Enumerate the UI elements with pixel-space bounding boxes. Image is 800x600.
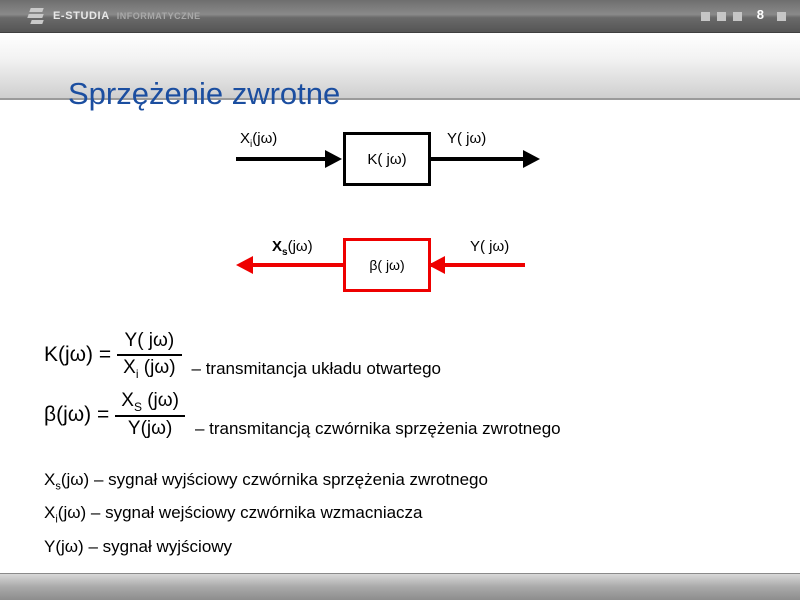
block-beta: β( jω)	[343, 238, 431, 292]
equation-k-lhs: K(jω) =	[44, 343, 117, 367]
legend-item: Xi(jω) – sygnał wejściowy czwórnika wzma…	[44, 503, 784, 525]
slide-number: 8	[757, 7, 764, 22]
top-input-label: Xi(jω)	[240, 130, 277, 150]
header-square-icon	[701, 12, 710, 21]
header-bar: E-STUDIA INFORMATYCZNE 8	[0, 0, 800, 33]
feedback-input-label: Y( jω)	[470, 238, 509, 255]
equation-k-description: – transmitancja układu otwartego	[182, 359, 441, 381]
block-diagram: Xi(jω) K( jω) Y( jω) Xs(jω) β( jω) Y( jω…	[0, 100, 800, 315]
equation-beta-fraction: XS (jω) Y(jω)	[115, 390, 185, 441]
top-output-label: Y( jω)	[447, 130, 486, 147]
equation-k-numerator: Y( jω)	[119, 330, 181, 353]
feedback-output-arrow-line	[252, 263, 344, 267]
feedback-input-arrow-line	[431, 263, 525, 267]
legend-list: Xs(jω) – sygnał wyjściowy czwórnika sprz…	[44, 470, 784, 570]
feedback-input-arrow-head	[428, 256, 445, 274]
title-band: Sprzężenie zwrotne	[0, 33, 800, 100]
equation-k-fraction: Y( jω) Xi (jω)	[117, 330, 181, 381]
legend-item: Xs(jω) – sygnał wyjściowy czwórnika sprz…	[44, 470, 784, 492]
brand-secondary-label: INFORMATYCZNE	[117, 11, 201, 21]
top-input-arrow-line	[236, 157, 326, 161]
header-square-group	[701, 12, 742, 21]
equation-beta-lhs: β(jω) =	[44, 403, 115, 427]
brand-primary-label: E-STUDIA	[53, 10, 110, 22]
block-k: K( jω)	[343, 132, 431, 186]
block-k-label: K( jω)	[346, 135, 428, 183]
legend-item: Y(jω) – sygnał wyjściowy	[44, 537, 784, 559]
logo-icon	[28, 7, 46, 25]
equation-k: K(jω) = Y( jω) Xi (jω) – transmitancja u…	[44, 330, 441, 381]
footer-bar	[0, 573, 800, 600]
top-input-arrow-head	[325, 150, 342, 168]
brand: E-STUDIA INFORMATYCZNE	[28, 7, 201, 25]
header-square-icon	[733, 12, 742, 21]
equation-beta-description: – transmitancją czwórnika sprzężenia zwr…	[185, 419, 561, 441]
equation-k-denominator: Xi (jω)	[117, 357, 181, 381]
top-output-arrow-head	[523, 150, 540, 168]
header-square-icon	[777, 12, 786, 21]
block-beta-label: β( jω)	[346, 241, 428, 289]
feedback-output-arrow-head	[236, 256, 253, 274]
header-square-icon	[717, 12, 726, 21]
equation-beta-fraction-bar	[115, 415, 185, 417]
equation-beta-numerator: XS (jω)	[115, 390, 185, 414]
feedback-output-label: Xs(jω)	[272, 238, 313, 258]
equation-beta-denominator: Y(jω)	[122, 418, 178, 441]
equation-beta: β(jω) = XS (jω) Y(jω) – transmitancją cz…	[44, 390, 561, 441]
top-output-arrow-line	[431, 157, 524, 161]
equation-k-fraction-bar	[117, 354, 181, 356]
